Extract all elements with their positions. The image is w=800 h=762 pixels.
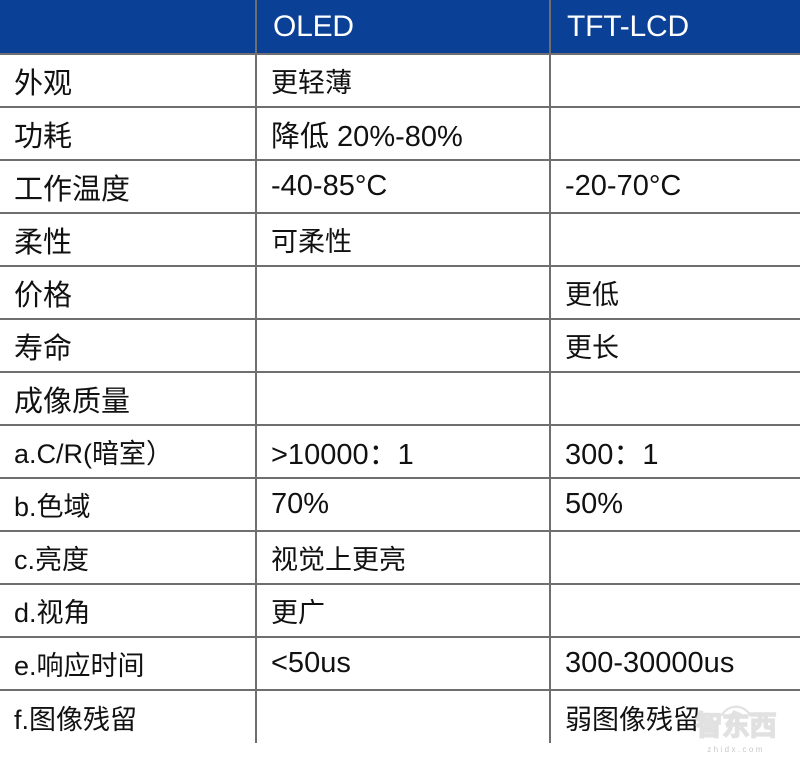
- row-feature-label: 价格: [0, 266, 256, 319]
- cell-tft-lcd: [550, 584, 800, 637]
- row-feature-label: 柔性: [0, 213, 256, 266]
- watermark-domain: zhidx.com: [678, 745, 794, 754]
- row-feature-label: f.图像残留: [0, 690, 256, 743]
- cell-tft-lcd: 更低: [550, 266, 800, 319]
- cell-tft-lcd: 50%: [550, 478, 800, 531]
- table-row: 寿命更长: [0, 319, 800, 372]
- table-row: b.色域70%50%: [0, 478, 800, 531]
- cell-oled: -40-85°C: [256, 160, 550, 213]
- row-feature-label: 寿命: [0, 319, 256, 372]
- cell-oled: >10000：1: [256, 425, 550, 478]
- cell-tft-lcd: [550, 54, 800, 107]
- cell-oled: 70%: [256, 478, 550, 531]
- table-row: 价格更低: [0, 266, 800, 319]
- cell-tft-lcd: [550, 213, 800, 266]
- cell-oled: 更广: [256, 584, 550, 637]
- cell-oled: 更轻薄: [256, 54, 550, 107]
- cell-oled: 可柔性: [256, 213, 550, 266]
- table-row: 柔性可柔性: [0, 213, 800, 266]
- oled-vs-tftlcd-comparison-table: OLED TFT-LCD 外观更轻薄功耗降低 20%-80%工作温度-40-85…: [0, 0, 800, 743]
- cell-tft-lcd: [550, 531, 800, 584]
- table-row: a.C/R(暗室）>10000：1300：1: [0, 425, 800, 478]
- cell-tft-lcd: [550, 372, 800, 425]
- table-body: 外观更轻薄功耗降低 20%-80%工作温度-40-85°C-20-70°C柔性可…: [0, 54, 800, 743]
- cell-oled: <50us: [256, 637, 550, 690]
- cell-oled: [256, 690, 550, 743]
- row-feature-label: e.响应时间: [0, 637, 256, 690]
- cell-oled: 降低 20%-80%: [256, 107, 550, 160]
- table-header: OLED TFT-LCD: [0, 0, 800, 54]
- cell-oled: [256, 266, 550, 319]
- cell-tft-lcd: [550, 107, 800, 160]
- row-feature-label: 工作温度: [0, 160, 256, 213]
- table-row: c.亮度视觉上更亮: [0, 531, 800, 584]
- table-row: 成像质量: [0, 372, 800, 425]
- row-feature-label: 外观: [0, 54, 256, 107]
- page-root: OLED TFT-LCD 外观更轻薄功耗降低 20%-80%工作温度-40-85…: [0, 0, 800, 762]
- cell-oled: 视觉上更亮: [256, 531, 550, 584]
- row-feature-label: b.色域: [0, 478, 256, 531]
- column-header-feature: [0, 0, 256, 54]
- table-row: 外观更轻薄: [0, 54, 800, 107]
- cell-tft-lcd: 300-30000us: [550, 637, 800, 690]
- table-row: d.视角更广: [0, 584, 800, 637]
- row-feature-label: c.亮度: [0, 531, 256, 584]
- row-feature-label: a.C/R(暗室）: [0, 425, 256, 478]
- column-header-oled: OLED: [256, 0, 550, 54]
- table-row: e.响应时间<50us300-30000us: [0, 637, 800, 690]
- table-row: f.图像残留弱图像残留: [0, 690, 800, 743]
- column-header-tft-lcd: TFT-LCD: [550, 0, 800, 54]
- table-row: 工作温度-40-85°C-20-70°C: [0, 160, 800, 213]
- cell-oled: [256, 372, 550, 425]
- row-feature-label: 成像质量: [0, 372, 256, 425]
- cell-oled: [256, 319, 550, 372]
- cell-tft-lcd: 更长: [550, 319, 800, 372]
- cell-tft-lcd: 弱图像残留: [550, 690, 800, 743]
- cell-tft-lcd: 300：1: [550, 425, 800, 478]
- table-header-row: OLED TFT-LCD: [0, 0, 800, 54]
- row-feature-label: d.视角: [0, 584, 256, 637]
- row-feature-label: 功耗: [0, 107, 256, 160]
- cell-tft-lcd: -20-70°C: [550, 160, 800, 213]
- table-row: 功耗降低 20%-80%: [0, 107, 800, 160]
